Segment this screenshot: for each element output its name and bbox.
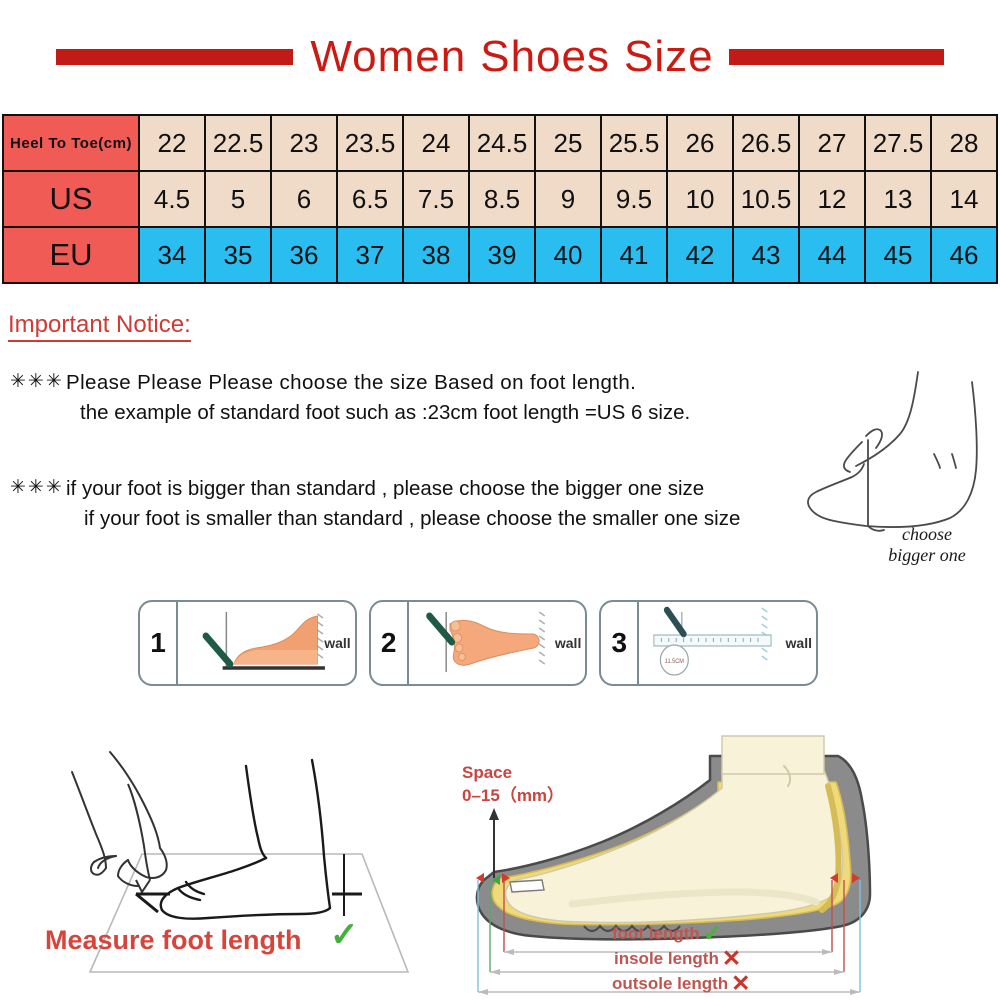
measuring-steps: 1 wall 2 <box>138 600 818 686</box>
cell-eu-0: 34 <box>139 227 205 283</box>
green-check-icon-foot-length: ✓ <box>703 922 722 945</box>
notice-line-2: the example of standard foot such as :23… <box>10 398 690 428</box>
important-notice-heading: Important Notice: <box>8 312 191 342</box>
cell-eu-6: 40 <box>535 227 601 283</box>
dimension-label-insole-length: insole length <box>614 950 719 967</box>
cell-us-1: 5 <box>205 171 271 227</box>
step-box-3: 3 <box>599 600 818 686</box>
cell-us-11: 13 <box>865 171 931 227</box>
notice-line-4: if your foot is smaller than standard , … <box>10 504 740 534</box>
cell-eu-5: 39 <box>469 227 535 283</box>
cell-us-3: 6.5 <box>337 171 403 227</box>
page-title: WomenShoesSize <box>303 32 720 82</box>
cell-eu-3: 37 <box>337 227 403 283</box>
title-word-2: Shoes <box>480 32 610 81</box>
dimension-foot-length: foot length ✓ <box>612 921 750 946</box>
notice-line-1-text: Please Please Please choose the size Bas… <box>66 371 636 394</box>
table-row-eu: EU 34 35 36 37 38 39 40 41 42 43 44 45 4… <box>3 227 997 283</box>
wall-label-3: wall <box>786 635 812 651</box>
title-word-1: Women <box>310 32 466 81</box>
shoe-dimension-labels: foot length ✓ insole length ✕ outsole le… <box>612 921 750 996</box>
cell-cm-12: 28 <box>931 115 997 171</box>
cell-eu-11: 45 <box>865 227 931 283</box>
cell-us-6: 9 <box>535 171 601 227</box>
red-cross-icon-insole-length: ✕ <box>722 947 741 970</box>
cell-eu-1: 35 <box>205 227 271 283</box>
notice-line-1: ✳✳✳Please Please Please choose the size … <box>10 368 690 398</box>
space-label-line-1: Space <box>462 762 564 785</box>
asterisk-icon-2: ✳✳✳ <box>10 474 66 502</box>
table-row-cm: Heel To Toe(cm) 22 22.5 23 23.5 24 24.5 … <box>3 115 997 171</box>
cell-cm-0: 22 <box>139 115 205 171</box>
cell-cm-6: 25 <box>535 115 601 171</box>
cell-eu-4: 38 <box>403 227 469 283</box>
step-number-1: 1 <box>140 602 178 684</box>
title-bar-left <box>56 49 293 65</box>
cell-eu-7: 41 <box>601 227 667 283</box>
cell-us-5: 8.5 <box>469 171 535 227</box>
row-header-eu: EU <box>3 227 139 283</box>
measure-foot-length-caption: Measure foot length <box>45 925 302 956</box>
caption-line-1: choose <box>852 524 1000 545</box>
cell-us-10: 12 <box>799 171 865 227</box>
cell-eu-10: 44 <box>799 227 865 283</box>
dimension-outsole-length: outsole length ✕ <box>612 971 750 996</box>
cell-us-2: 6 <box>271 171 337 227</box>
cell-cm-7: 25.5 <box>601 115 667 171</box>
step-illustration-3: 11.5CM wall <box>639 602 816 684</box>
cell-eu-8: 42 <box>667 227 733 283</box>
caption-line-2: bigger one <box>852 545 1000 566</box>
dimension-label-foot-length: foot length <box>612 925 700 942</box>
cell-cm-3: 23.5 <box>337 115 403 171</box>
dimension-label-outsole-length: outsole length <box>612 975 728 992</box>
table-row-us: US 4.5 5 6 6.5 7.5 8.5 9 9.5 10 10.5 12 … <box>3 171 997 227</box>
size-conversion-table: Heel To Toe(cm) 22 22.5 23 23.5 24 24.5 … <box>2 114 998 284</box>
row-header-us: US <box>3 171 139 227</box>
title-word-3: Size <box>624 32 714 81</box>
green-check-icon: ✓ <box>330 918 359 952</box>
cell-cm-4: 24 <box>403 115 469 171</box>
space-label-line-2: 0–15（mm） <box>462 785 564 808</box>
cell-us-9: 10.5 <box>733 171 799 227</box>
wall-label-1: wall <box>324 635 350 651</box>
cell-cm-8: 26 <box>667 115 733 171</box>
cell-us-8: 10 <box>667 171 733 227</box>
size-chart-page: WomenShoesSize Heel To Toe(cm) 22 22.5 2… <box>0 0 1000 1000</box>
step-number-2: 2 <box>371 602 409 684</box>
cell-eu-2: 36 <box>271 227 337 283</box>
cell-cm-10: 27 <box>799 115 865 171</box>
cell-eu-9: 43 <box>733 227 799 283</box>
cell-cm-2: 23 <box>271 115 337 171</box>
cell-eu-12: 46 <box>931 227 997 283</box>
cell-cm-9: 26.5 <box>733 115 799 171</box>
step-box-2: 2 wall <box>369 600 588 686</box>
cell-us-12: 14 <box>931 171 997 227</box>
space-measurement-label: Space 0–15（mm） <box>462 762 564 808</box>
step-box-1: 1 wall <box>138 600 357 686</box>
cell-cm-11: 27.5 <box>865 115 931 171</box>
dimension-insole-length: insole length ✕ <box>612 946 750 971</box>
page-title-row: WomenShoesSize <box>0 22 1000 92</box>
notice-block-2: ✳✳✳if your foot is bigger than standard … <box>10 474 740 533</box>
cell-cm-5: 24.5 <box>469 115 535 171</box>
title-bar-right <box>729 49 944 65</box>
row-header-heel-to-toe: Heel To Toe(cm) <box>3 115 139 171</box>
cell-cm-1: 22.5 <box>205 115 271 171</box>
cell-us-4: 7.5 <box>403 171 469 227</box>
foot-sketch-caption: choose bigger one <box>852 524 1000 565</box>
red-cross-icon-outsole-length: ✕ <box>731 972 750 995</box>
asterisk-icon: ✳✳✳ <box>10 368 66 396</box>
notice-line-3-text: if your foot is bigger than standard , p… <box>66 477 704 500</box>
cell-us-7: 9.5 <box>601 171 667 227</box>
magnifier-text: 11.5CM <box>665 659 684 665</box>
step-number-3: 3 <box>601 602 639 684</box>
step-illustration-2: wall <box>409 602 586 684</box>
notice-line-3: ✳✳✳if your foot is bigger than standard … <box>10 474 740 504</box>
wall-label-2: wall <box>555 635 581 651</box>
notice-block-1: ✳✳✳Please Please Please choose the size … <box>10 368 690 427</box>
step-illustration-1: wall <box>178 602 355 684</box>
cell-us-0: 4.5 <box>139 171 205 227</box>
